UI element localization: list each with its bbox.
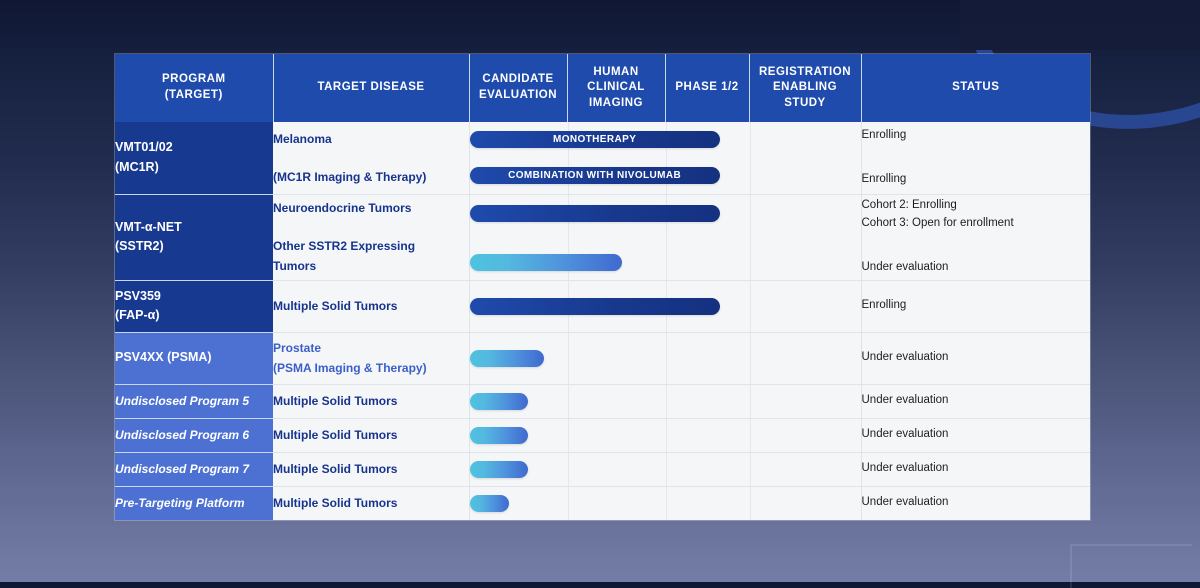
program-name: Undisclosed Program 6 xyxy=(115,426,273,445)
disease-label: Prostate xyxy=(273,339,469,357)
header-human-line1: HUMAN xyxy=(593,66,638,78)
header-candidate-line1: CANDIDATE xyxy=(482,73,553,85)
header-registration-line1: REGISTRATION xyxy=(759,66,851,78)
header-status-label: STATUS xyxy=(952,81,999,93)
disease-label: Multiple Solid Tumors xyxy=(273,426,469,444)
program-name: Undisclosed Program 7 xyxy=(115,460,273,479)
progress-bar xyxy=(470,205,720,222)
table-row: PSV4XX (PSMA) Prostate (PSMA Imaging & T… xyxy=(115,332,1090,384)
program-name: PSV359 xyxy=(115,287,273,306)
disease-cell: Multiple Solid Tumors xyxy=(273,452,469,486)
column-header-candidate-evaluation: CANDIDATE EVALUATION xyxy=(469,54,567,122)
header-target-disease-label: TARGET DISEASE xyxy=(317,81,424,93)
status-cell: Under evaluation xyxy=(861,486,1090,520)
disease-label: Multiple Solid Tumors xyxy=(273,494,469,512)
status-cell: Under evaluation xyxy=(861,332,1090,384)
program-cell: Undisclosed Program 5 xyxy=(115,384,273,418)
table-body: VMT01/02 (MC1R) Melanoma (MC1R Imaging &… xyxy=(115,122,1090,520)
progress-bar xyxy=(470,350,544,367)
header-phase-label: PHASE 1/2 xyxy=(675,81,738,93)
progress-track xyxy=(469,418,861,452)
program-cell: Pre-Targeting Platform xyxy=(115,486,273,520)
program-name: VMT01/02 xyxy=(115,138,273,157)
header-registration-line3: STUDY xyxy=(784,97,825,109)
table-row: VMT-α-NET (SSTR2) Neuroendocrine Tumors … xyxy=(115,194,1090,280)
progress-bar-label: MONOTHERAPY xyxy=(553,134,636,145)
table-row: Undisclosed Program 6 Multiple Solid Tum… xyxy=(115,418,1090,452)
disease-label-secondary: Other SSTR2 Expressing xyxy=(273,237,469,255)
table-row: VMT01/02 (MC1R) Melanoma (MC1R Imaging &… xyxy=(115,122,1090,194)
progress-bar xyxy=(470,461,529,478)
status-text: Enrolling xyxy=(862,171,1091,189)
table-row: Undisclosed Program 5 Multiple Solid Tum… xyxy=(115,384,1090,418)
disease-label-secondary: (MC1R Imaging & Therapy) xyxy=(273,168,469,186)
program-target: (SSTR2) xyxy=(115,237,273,256)
progress-track xyxy=(469,332,861,384)
progress-bar xyxy=(470,495,509,512)
table-row: PSV359 (FAP-α) Multiple Solid Tumors Enr… xyxy=(115,280,1090,332)
disease-label: Melanoma xyxy=(273,130,469,148)
progress-bar xyxy=(470,393,529,410)
program-cell: PSV359 (FAP-α) xyxy=(115,280,273,332)
disease-cell: Multiple Solid Tumors xyxy=(273,486,469,520)
table-header: PROGRAM (TARGET) TARGET DISEASE CANDIDAT… xyxy=(115,54,1090,122)
table-row: Undisclosed Program 7 Multiple Solid Tum… xyxy=(115,452,1090,486)
status-text: Cohort 3: Open for enrollment xyxy=(862,215,1091,233)
header-human-line2: CLINICAL xyxy=(587,81,645,93)
program-name: Pre-Targeting Platform xyxy=(115,494,273,513)
column-header-status: STATUS xyxy=(861,54,1090,122)
header-program-line2: (TARGET) xyxy=(165,89,223,101)
program-cell: PSV4XX (PSMA) xyxy=(115,332,273,384)
status-cell: Enrolling xyxy=(861,280,1090,332)
header-human-line3: IMAGING xyxy=(589,97,643,109)
status-text: Under evaluation xyxy=(862,349,1091,367)
status-text: Enrolling xyxy=(862,127,1091,145)
disease-label: Neuroendocrine Tumors xyxy=(273,199,469,217)
progress-track xyxy=(469,194,861,280)
status-text: Under evaluation xyxy=(862,494,1091,512)
disease-label: Multiple Solid Tumors xyxy=(273,392,469,410)
disease-label: Multiple Solid Tumors xyxy=(273,460,469,478)
program-name: PSV4XX (PSMA) xyxy=(115,348,273,367)
program-name: VMT-α-NET xyxy=(115,218,273,237)
progress-bar: COMBINATION WITH NIVOLUMAB xyxy=(470,167,720,184)
column-header-target-disease: TARGET DISEASE xyxy=(273,54,469,122)
program-cell: VMT01/02 (MC1R) xyxy=(115,122,273,194)
status-cell: Cohort 2: Enrolling Cohort 3: Open for e… xyxy=(861,194,1090,280)
header-registration-line2: ENABLING xyxy=(773,81,837,93)
header-row: PROGRAM (TARGET) TARGET DISEASE CANDIDAT… xyxy=(115,54,1090,122)
disease-label-secondary-cont: Tumors xyxy=(273,257,469,275)
program-cell: VMT-α-NET (SSTR2) xyxy=(115,194,273,280)
program-target: (FAP-α) xyxy=(115,306,273,325)
table-row: Pre-Targeting Platform Multiple Solid Tu… xyxy=(115,486,1090,520)
disease-cell: Melanoma (MC1R Imaging & Therapy) xyxy=(273,122,469,194)
column-header-registration-enabling-study: REGISTRATION ENABLING STUDY xyxy=(749,54,861,122)
program-name: Undisclosed Program 5 xyxy=(115,392,273,411)
status-text: Cohort 2: Enrolling xyxy=(862,197,1091,215)
progress-bar xyxy=(470,254,622,271)
disease-label-secondary: (PSMA Imaging & Therapy) xyxy=(273,359,469,377)
progress-track: MONOTHERAPY COMBINATION WITH NIVOLUMAB xyxy=(469,122,861,194)
program-target: (MC1R) xyxy=(115,158,273,177)
program-cell: Undisclosed Program 7 xyxy=(115,452,273,486)
status-text: Under evaluation xyxy=(862,259,1091,277)
header-program-line1: PROGRAM xyxy=(162,73,226,85)
progress-track xyxy=(469,384,861,418)
status-cell: Under evaluation xyxy=(861,452,1090,486)
column-header-human-clinical-imaging: HUMAN CLINICAL IMAGING xyxy=(567,54,665,122)
status-cell: Under evaluation xyxy=(861,384,1090,418)
status-text: Enrolling xyxy=(862,297,1091,315)
header-candidate-line2: EVALUATION xyxy=(479,89,557,101)
disease-cell: Multiple Solid Tumors xyxy=(273,280,469,332)
disease-label: Multiple Solid Tumors xyxy=(273,297,469,315)
status-text: Under evaluation xyxy=(862,392,1091,410)
disease-cell: Multiple Solid Tumors xyxy=(273,384,469,418)
progress-track xyxy=(469,280,861,332)
column-header-program: PROGRAM (TARGET) xyxy=(115,54,273,122)
progress-track xyxy=(469,452,861,486)
progress-track xyxy=(469,486,861,520)
decorative-arc-mask xyxy=(960,0,1200,50)
status-cell: Under evaluation xyxy=(861,418,1090,452)
disease-cell: Neuroendocrine Tumors Other SSTR2 Expres… xyxy=(273,194,469,280)
disease-cell: Multiple Solid Tumors xyxy=(273,418,469,452)
column-header-phase: PHASE 1/2 xyxy=(665,54,749,122)
progress-bar: MONOTHERAPY xyxy=(470,131,720,148)
status-cell: Enrolling Enrolling xyxy=(861,122,1090,194)
progress-bar-label: COMBINATION WITH NIVOLUMAB xyxy=(508,170,681,181)
decorative-corner-bottom-right xyxy=(1070,544,1192,588)
progress-bar xyxy=(470,298,720,315)
program-cell: Undisclosed Program 6 xyxy=(115,418,273,452)
progress-bar xyxy=(470,427,529,444)
status-text: Under evaluation xyxy=(862,426,1091,444)
pipeline-table: PROGRAM (TARGET) TARGET DISEASE CANDIDAT… xyxy=(115,54,1090,520)
disease-cell: Prostate (PSMA Imaging & Therapy) xyxy=(273,332,469,384)
status-text: Under evaluation xyxy=(862,460,1091,478)
